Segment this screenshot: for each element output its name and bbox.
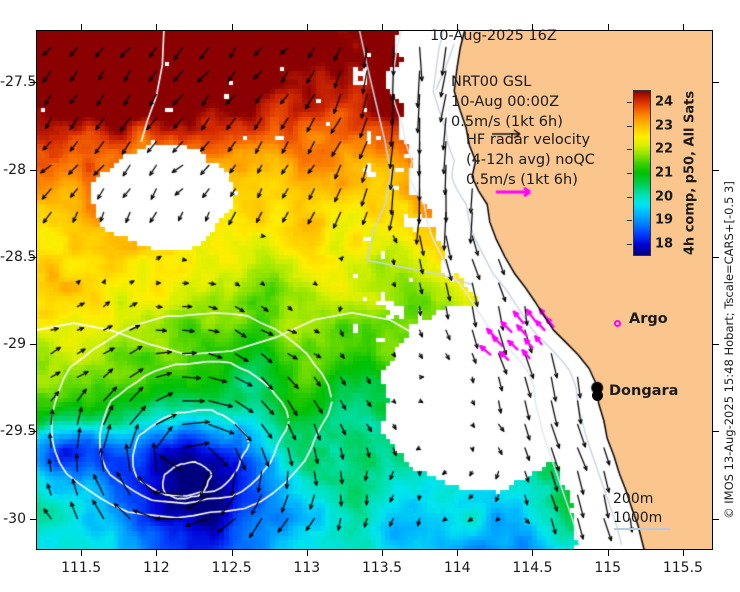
y-axis-tick-right bbox=[713, 82, 719, 83]
dongara-marker-icon bbox=[592, 390, 603, 401]
bathymetry-scale-text: 200m 1000m bbox=[613, 490, 662, 528]
colorbar-tick-label: 20 bbox=[655, 189, 673, 204]
y-axis-label: -29.5 bbox=[0, 423, 26, 439]
x-axis-tick bbox=[608, 550, 609, 556]
x-axis-tick bbox=[457, 550, 458, 556]
x-axis-label: 113.5 bbox=[362, 560, 402, 576]
colorbar-tick bbox=[627, 126, 632, 127]
x-axis-label: 115.5 bbox=[663, 560, 703, 576]
x-axis-tick bbox=[156, 550, 157, 556]
colorbar-tick bbox=[627, 102, 632, 103]
y-axis-label: -30 bbox=[0, 511, 26, 527]
date-stamp: 10-Aug-2025 16Z bbox=[430, 28, 557, 44]
model-legend-text: NRT00 GSL 10-Aug 00:00Z 0.5m/s (1kt 6h) bbox=[451, 72, 563, 132]
x-axis-tick bbox=[382, 550, 383, 556]
bathy-1000m-label: 1000m bbox=[613, 509, 662, 528]
x-axis-tick-top bbox=[683, 24, 684, 30]
hfr-legend-line2: (4-12h avg) noQC bbox=[466, 150, 595, 170]
x-axis-tick-top bbox=[307, 24, 308, 30]
y-axis-tick bbox=[30, 519, 36, 520]
y-axis-tick bbox=[30, 344, 36, 345]
x-axis-tick bbox=[532, 550, 533, 556]
x-axis-label: 113 bbox=[293, 560, 320, 576]
model-legend-line2: 10-Aug 00:00Z bbox=[451, 92, 563, 112]
y-axis-tick-right bbox=[713, 257, 719, 258]
y-axis-tick-right bbox=[713, 344, 719, 345]
colorbar bbox=[633, 90, 651, 256]
colorbar-tick bbox=[627, 149, 632, 150]
bathy-200m-label: 200m bbox=[613, 490, 662, 509]
x-axis-label: 114 bbox=[444, 560, 471, 576]
x-axis-tick-top bbox=[81, 24, 82, 30]
y-axis-tick-right bbox=[713, 519, 719, 520]
x-axis-tick-top bbox=[382, 24, 383, 30]
hfr-legend-text: HF radar velocity (4-12h avg) noQC 0.5m/… bbox=[466, 130, 595, 190]
vector-contour-overlay-layer bbox=[36, 30, 713, 550]
credit-text: © IMOS 13-Aug-2025 15:48 Hobart; Tscale=… bbox=[722, 181, 736, 519]
model-legend-line1: NRT00 GSL bbox=[451, 72, 563, 92]
colorbar-tick bbox=[627, 197, 632, 198]
y-axis-label: -27.5 bbox=[0, 74, 26, 90]
argo-marker-icon bbox=[614, 320, 621, 327]
y-axis-label: -28.5 bbox=[0, 249, 26, 265]
x-axis-tick-top bbox=[232, 24, 233, 30]
x-axis-label: 115 bbox=[594, 560, 621, 576]
x-axis-label: 114.5 bbox=[512, 560, 552, 576]
colorbar-tick-label: 22 bbox=[655, 142, 673, 157]
colorbar-tick-label: 24 bbox=[655, 94, 673, 109]
hfr-legend-line1: HF radar velocity bbox=[466, 130, 595, 150]
colorbar-tick-label: 21 bbox=[655, 166, 673, 181]
hfr-legend-line3: 0.5m/s (1kt 6h) bbox=[466, 170, 595, 190]
y-axis-label: -29 bbox=[0, 336, 26, 352]
colorbar-tick-label: 23 bbox=[655, 118, 673, 133]
x-axis-tick bbox=[81, 550, 82, 556]
y-axis-tick-right bbox=[713, 170, 719, 171]
y-axis-tick-right bbox=[713, 431, 719, 432]
colorbar-gradient bbox=[633, 90, 651, 256]
x-axis-tick-top bbox=[608, 24, 609, 30]
y-axis-label: -28 bbox=[0, 162, 26, 178]
bathy-scale-line bbox=[614, 528, 670, 530]
x-axis-label: 111.5 bbox=[61, 560, 101, 576]
x-axis-label: 112.5 bbox=[212, 560, 252, 576]
x-axis-tick bbox=[683, 550, 684, 556]
model-legend-line3: 0.5m/s (1kt 6h) bbox=[451, 112, 563, 132]
colorbar-tick bbox=[627, 173, 632, 174]
colorbar-tick bbox=[627, 244, 632, 245]
colorbar-tick-label: 19 bbox=[655, 213, 673, 228]
x-axis-tick bbox=[307, 550, 308, 556]
colorbar-tick bbox=[627, 220, 632, 221]
argo-legend-label: Argo bbox=[629, 311, 668, 327]
x-axis-label: 112 bbox=[143, 560, 170, 576]
map-plot-area bbox=[36, 30, 713, 550]
colorbar-tick-label: 18 bbox=[655, 237, 673, 252]
dongara-label: Dongara bbox=[609, 383, 678, 399]
y-axis-tick bbox=[30, 170, 36, 171]
colorbar-title: 4h comp, p50, All Sats bbox=[683, 91, 698, 255]
x-axis-tick-top bbox=[156, 24, 157, 30]
x-axis-tick bbox=[232, 550, 233, 556]
